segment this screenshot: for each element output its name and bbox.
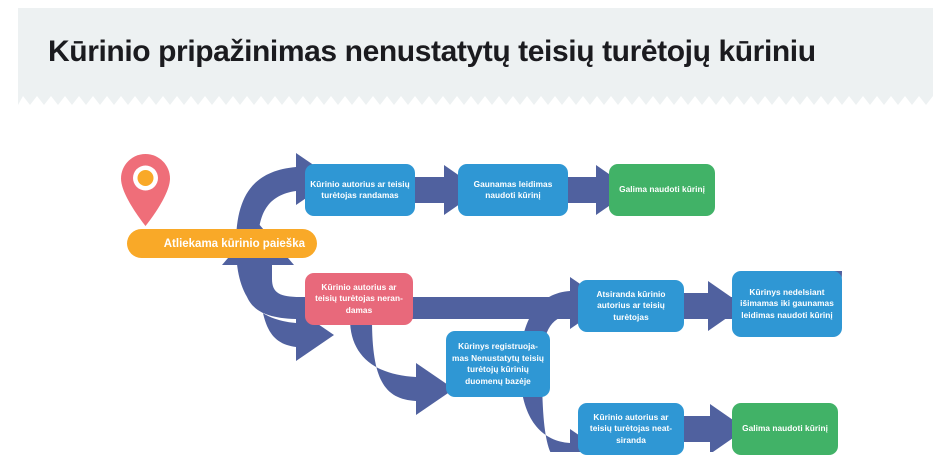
node-author-found-label: Kūrinio autorius ar teisių turėtojas ran… [310,179,410,202]
node-can-use-bottom-label: Galima naudoti kūrinį [737,423,833,435]
flowchart: Atliekama kūrinio paieška Kūrinio autori… [0,105,951,452]
node-can-use-top-label: Galima naudoti kūrinį [614,184,710,196]
node-work-removed-label: Kūrinys nedelsiant išimamas iki gaunamas… [737,287,837,322]
page-title: Kūrinio pripažinimas nenustatytų teisių … [48,32,908,72]
node-work-registered-label: Kūrinys registruoja-mas Nenustatytų teis… [451,341,545,387]
map-pin-icon [121,154,170,242]
node-can-use-bottom[interactable]: Galima naudoti kūrinį [732,403,838,455]
node-permission-obtained-label: Gaunamas leidimas naudoti kūrinį [463,179,563,202]
node-author-found[interactable]: Kūrinio autorius ar teisių turėtojas ran… [305,164,415,216]
node-author-appears-label: Atsiranda kūrinio autorius ar teisių tur… [583,289,679,324]
start-node-label: Atliekama kūrinio paieška [164,238,305,250]
node-can-use-top[interactable]: Galima naudoti kūrinį [609,164,715,216]
node-permission-obtained[interactable]: Gaunamas leidimas naudoti kūrinį [458,164,568,216]
node-work-registered[interactable]: Kūrinys registruoja-mas Nenustatytų teis… [446,331,550,397]
node-author-not-found-label: Kūrinio autorius ar teisių turėtojas ner… [310,282,408,317]
header-zigzag-divider [18,96,933,105]
node-author-not-found[interactable]: Kūrinio autorius ar teisių turėtojas ner… [305,273,413,325]
node-author-not-appearing[interactable]: Kūrinio autorius ar teisių turėtojas nea… [578,403,684,455]
arrow-author-not-found-to-registered [350,319,454,415]
node-author-appears[interactable]: Atsiranda kūrinio autorius ar teisių tur… [578,280,684,332]
node-work-removed[interactable]: Kūrinys nedelsiant išimamas iki gaunamas… [732,271,842,337]
header-banner: Kūrinio pripažinimas nenustatytų teisių … [18,8,933,96]
node-author-not-appearing-label: Kūrinio autorius ar teisių turėtojas nea… [583,412,679,447]
